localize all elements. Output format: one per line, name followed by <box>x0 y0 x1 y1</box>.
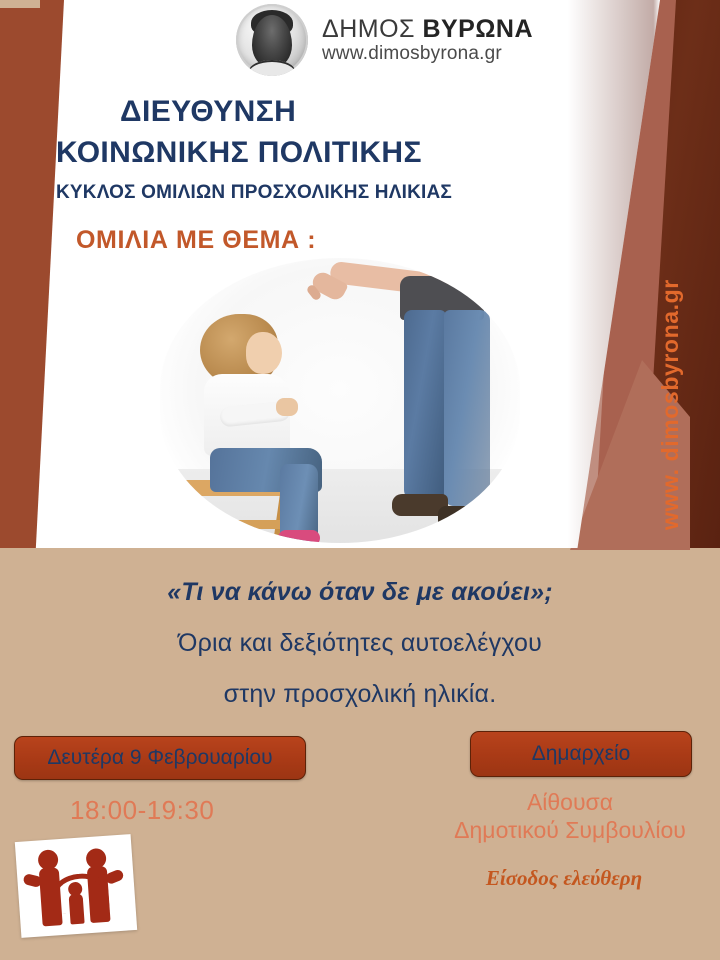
free-entry-note: Είσοδος ελεύθερη <box>420 866 708 891</box>
page-title-line-1: ΔΙΕΥΘΥΝΣΗ <box>120 95 296 129</box>
topic-line-2: Όρια και δεξιότητες αυτοελέγχου <box>0 629 720 658</box>
page-subtitle-series: ΚΥΚΛΟΣ ΟΜΙΛΙΩΝ ΠΡΟΣΧΟΛΙΚΗΣ ΗΛΙΚΙΑΣ <box>56 182 452 204</box>
child-hand <box>276 398 298 416</box>
byron-coin-medallion-icon <box>236 4 308 76</box>
vertical-website-wrapper: www. dimosbyrona.gr <box>684 170 718 530</box>
poster: ΔΗΜΟΣ ΒΥΡΩΝΑ www.dimosbyrona.gr ΔΙΕΥΘΥΝΣ… <box>0 0 720 960</box>
family-adult-right-arm <box>104 868 125 885</box>
municipality-website: www.dimosbyrona.gr <box>322 44 533 64</box>
talk-topic-label: ΟΜΙΛΙΑ ΜΕ ΘΕΜΑ : <box>76 226 316 255</box>
page-title-line-2: ΚΟΙΝΩΝΙΚΗΣ ΠΟΛΙΤΙΚΗΣ <box>56 136 422 170</box>
event-venue-badge: Δημαρχείο <box>470 731 692 777</box>
topic-line-1: «Τι να κάνω όταν δε με ακούει»; <box>0 578 720 607</box>
municipality-name: ΔΗΜΟΣ ΒΥΡΩΝΑ <box>322 16 533 42</box>
stool-crossbar <box>186 520 290 529</box>
family-pictogram-figures <box>15 834 137 938</box>
family-child-body <box>69 894 85 925</box>
child-sock <box>278 530 320 543</box>
family-pictogram-icon <box>15 834 137 938</box>
talk-topic-block: «Τι να κάνω όταν δε με ακούει»; Όρια και… <box>0 578 720 709</box>
event-time: 18:00-19:30 <box>70 795 270 826</box>
municipality-logo: ΔΗΜΟΣ ΒΥΡΩΝΑ www.dimosbyrona.gr <box>236 4 533 76</box>
parent-scolding-child-photo <box>160 258 520 543</box>
event-hall-line-1: Αίθουσα <box>420 788 720 816</box>
left-wedge-top-notch <box>0 0 40 8</box>
event-hall-line-2: Δημοτικού Συμβουλίου <box>420 816 720 844</box>
child-face <box>246 332 282 374</box>
event-hall: Αίθουσα Δημοτικού Συμβουλίου <box>420 788 720 844</box>
adult-right-leg <box>444 310 490 506</box>
municipality-name-suffix: ΒΥΡΩΝΑ <box>422 15 533 43</box>
vertical-website-url: www. dimosbyrona.gr <box>657 279 684 530</box>
adult-left-leg <box>404 310 446 500</box>
topic-line-3: στην προσχολική ηλικία. <box>0 680 720 709</box>
adult-right-shoe <box>438 506 498 528</box>
coin-portrait-collar <box>249 60 295 76</box>
municipality-name-prefix: ΔΗΜΟΣ <box>322 15 422 43</box>
logo-text-block: ΔΗΜΟΣ ΒΥΡΩΝΑ www.dimosbyrona.gr <box>322 16 533 64</box>
event-date-badge: Δευτέρα 9 Φεβρουαρίου <box>14 736 306 780</box>
